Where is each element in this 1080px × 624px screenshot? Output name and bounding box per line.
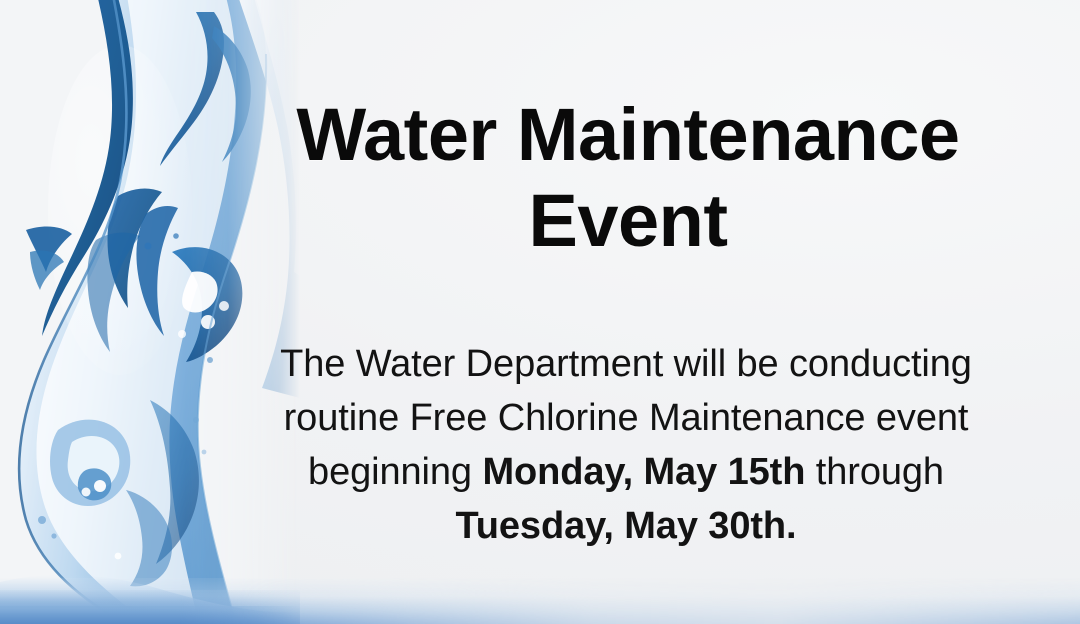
- water-maintenance-notice-poster: Water Maintenance Event The Water Depart…: [0, 0, 1080, 624]
- body-segment-end-date: Tuesday, May 30th.: [455, 505, 796, 547]
- poster-content: Water Maintenance Event The Water Depart…: [248, 0, 1028, 624]
- announcement-body: The Water Department will be conducting …: [250, 338, 1002, 554]
- body-segment-through: through: [805, 451, 944, 493]
- page-title: Water Maintenance Event: [248, 92, 1008, 265]
- body-segment-start-date: Monday, May 15th: [482, 451, 805, 493]
